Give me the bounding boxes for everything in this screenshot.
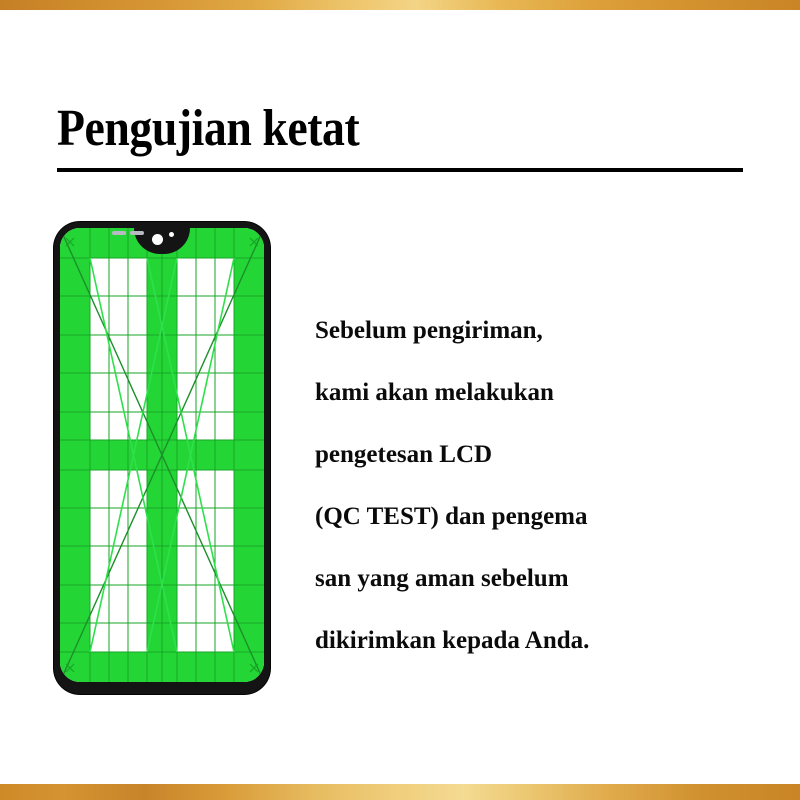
proximity-sensor-icon <box>169 232 174 237</box>
description-line: dikirimkan kepada Anda. <box>315 610 715 672</box>
earpiece-speaker-icon <box>112 231 126 235</box>
description-line: (QC TEST) dan pengema <box>315 486 715 548</box>
front-camera-icon <box>152 234 163 245</box>
page-title: Pengujian ketat <box>57 100 664 158</box>
lcd-test-pattern-icon <box>60 228 264 682</box>
description-text-block: Sebelum pengiriman, kami akan melakukan … <box>315 300 715 672</box>
description-line: kami akan melakukan <box>315 362 715 424</box>
description-line: Sebelum pengiriman, <box>315 300 715 362</box>
earpiece-speaker-icon <box>130 231 144 235</box>
phone-mockup <box>54 222 270 694</box>
headline-block: Pengujian ketat <box>57 100 747 172</box>
title-underline-rule <box>57 168 743 172</box>
description-line: pengetesan LCD <box>315 424 715 486</box>
phone-screen <box>60 228 264 682</box>
description-line: san yang aman sebelum <box>315 548 715 610</box>
gold-bar-bottom <box>0 784 800 800</box>
gold-bar-top <box>0 0 800 10</box>
